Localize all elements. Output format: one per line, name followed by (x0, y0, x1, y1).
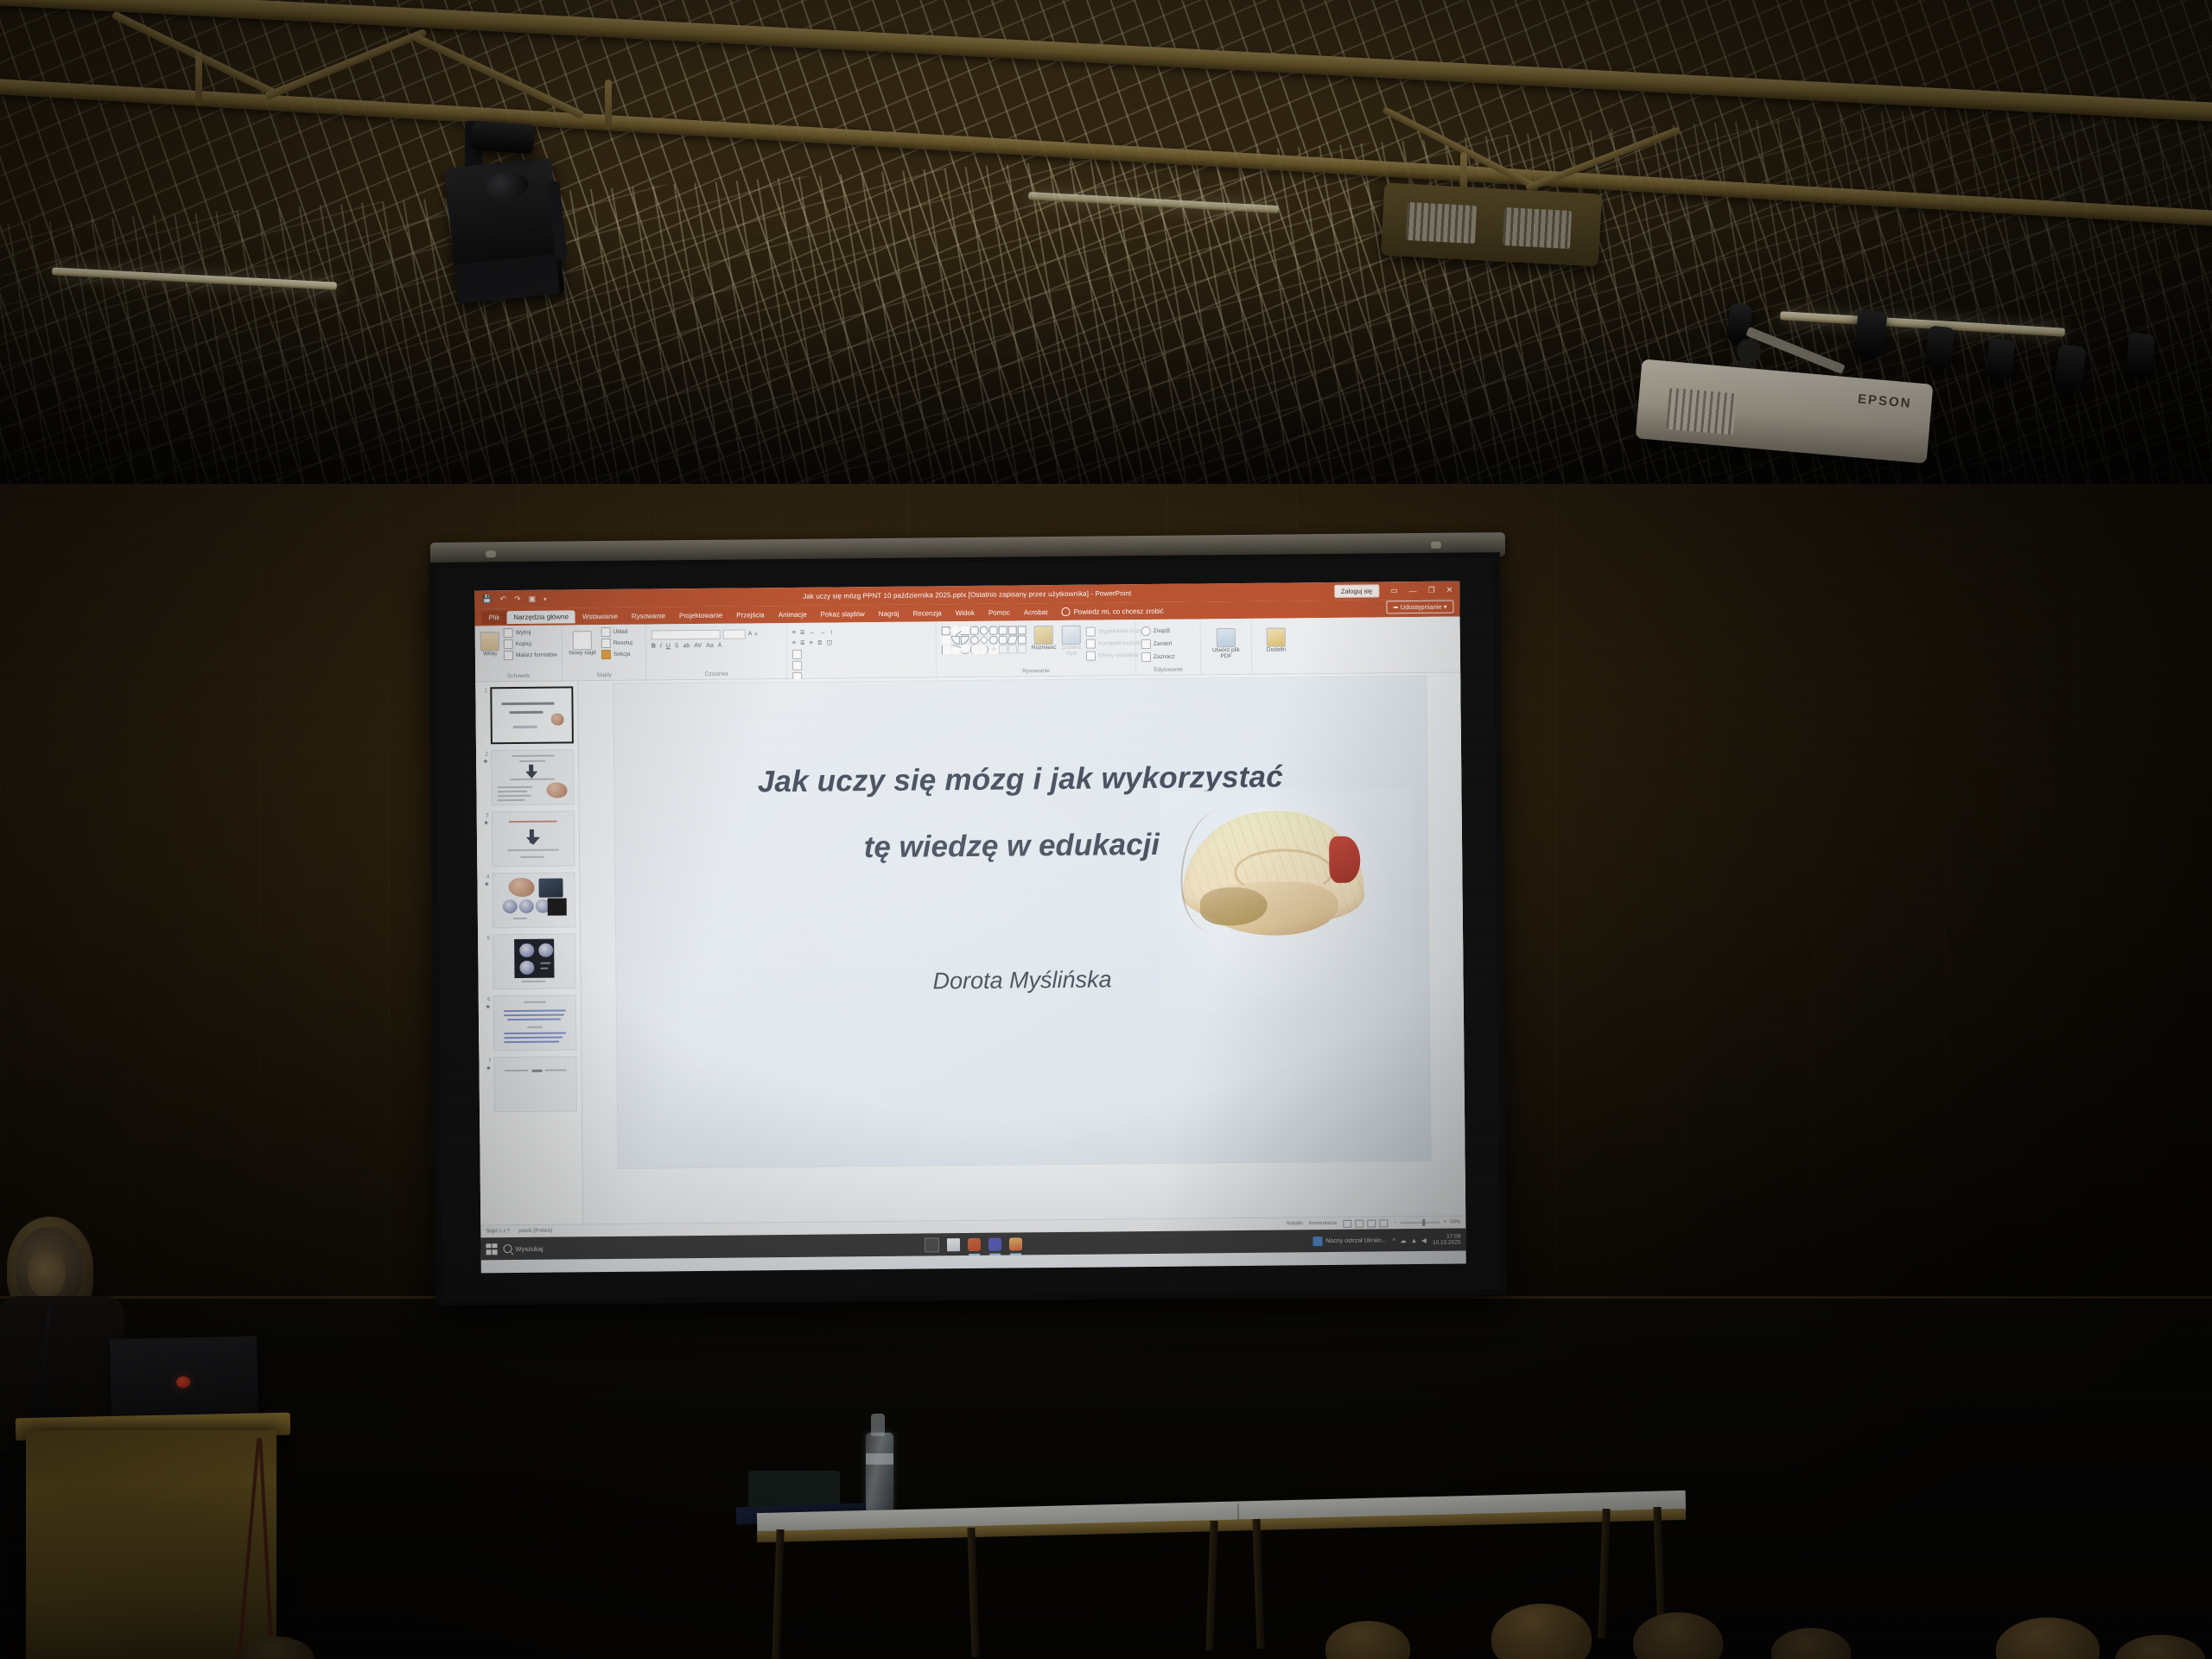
replace-icon (1141, 639, 1151, 649)
text-direction-icon (792, 650, 802, 659)
find-button[interactable]: Znajdź (1141, 626, 1195, 636)
group-label-edytowanie: Edytowanie (1141, 666, 1195, 674)
bold-icon[interactable]: B (652, 643, 656, 649)
paste-button[interactable]: Wklej (480, 632, 499, 658)
search-input[interactable]: Wyszukaj (503, 1244, 543, 1253)
current-slide[interactable]: Jak uczy się mózg i jak wykorzystać tę w… (613, 677, 1430, 1168)
paintbrush-icon (504, 651, 513, 660)
shape-circle2-icon[interactable] (970, 636, 979, 645)
copy-label: Kopiuj (516, 641, 531, 647)
shape-line-icon[interactable] (950, 625, 962, 637)
wall-lower-dark (0, 1300, 2212, 1659)
arrange-label: Rozmieść (1032, 645, 1057, 652)
tab-plik[interactable]: Plik (481, 611, 506, 624)
addins-label: Dodatki (1267, 647, 1286, 653)
truss-vertical-2 (605, 79, 612, 130)
ceiling-fixture-c (1925, 326, 1955, 370)
highlighted-region (1328, 836, 1360, 883)
slide-number: 3 (481, 811, 489, 819)
slide-number: 4 (481, 873, 489, 880)
zoom-slider[interactable] (1401, 1222, 1440, 1224)
volume-icon[interactable]: ◀ (1421, 1236, 1427, 1243)
increase-font-size-icon[interactable]: A (748, 631, 753, 637)
slide-sorter-icon[interactable] (1355, 1219, 1363, 1227)
tab-projektowanie[interactable]: Projektowanie (672, 608, 729, 622)
shape-more-a-icon[interactable] (999, 645, 1007, 654)
align-text-label (804, 663, 818, 669)
select-button[interactable]: Zaznacz (1141, 652, 1195, 662)
ceiling-fixture-b (1853, 309, 1887, 357)
reset-label: Resetuj (613, 640, 632, 646)
text-direction-label (804, 652, 818, 658)
underline-icon[interactable]: U (666, 643, 671, 649)
group-label-acrobat (1206, 666, 1246, 673)
reading-view-icon[interactable] (1367, 1219, 1376, 1227)
shape-outline-icon (1086, 639, 1096, 649)
reset-button[interactable]: Resetuj (601, 639, 632, 648)
firefox-icon[interactable] (1009, 1237, 1022, 1250)
ceiling-fixture-f (2126, 333, 2156, 377)
truss-light-box-vent-2 (1503, 207, 1572, 249)
water-bottle-label (866, 1453, 893, 1465)
format-painter-label: Malarz formatów (516, 652, 557, 658)
group-label-czcionka: Czcionka (652, 671, 781, 678)
ribbon[interactable]: Wklej Wytnij Kopiuj (475, 617, 1461, 683)
list-item[interactable]: 1 (475, 686, 578, 750)
slide-number: 6 (483, 995, 491, 1003)
columns-icon[interactable]: ◫ (827, 639, 833, 645)
shape-diamond-icon[interactable] (980, 636, 988, 645)
task-view-icon[interactable] (925, 1237, 939, 1252)
decrease-indent-icon[interactable]: ← (810, 629, 816, 635)
taskbar-pinned-apps[interactable] (925, 1236, 1022, 1252)
projector-vent (1666, 388, 1737, 435)
water-bottle (866, 1433, 893, 1512)
decrease-font-size-icon[interactable]: A (754, 632, 757, 637)
shape-brace-left-icon[interactable] (970, 645, 979, 654)
ribbon-group-schowek: Wklej Wytnij Kopiuj (475, 625, 563, 681)
justify-icon[interactable]: ≣ (817, 639, 823, 646)
slide-counter: Slajd 1 z 7 (486, 1229, 510, 1234)
ceiling-fixture-d (1986, 338, 2016, 380)
group-label-dodatki (1257, 665, 1295, 672)
shape-star-icon[interactable]: ☆ (989, 645, 998, 654)
truss-light-box-vent (1406, 202, 1477, 244)
tab-recenzja[interactable]: Recenzja (906, 607, 949, 620)
brain-sagittal-image[interactable] (1159, 789, 1413, 1012)
comments-button[interactable]: Komentarze (1309, 1221, 1337, 1226)
share-chevron-down-icon: ▾ (1444, 603, 1447, 611)
news-widget[interactable]: Nocny ostrzał Ukrain... (1313, 1236, 1387, 1246)
shape-rr2-icon[interactable] (999, 636, 1007, 645)
cut-button[interactable]: Wytnij (504, 628, 557, 639)
tab-narzedzia-glowne[interactable]: Narzędzia główne (506, 610, 575, 624)
font-color-icon[interactable]: A (718, 643, 722, 649)
presenter-face (28, 1251, 66, 1298)
list-item[interactable]: 6 ★ (479, 995, 582, 1057)
new-slide-label: Nowy slajd (569, 651, 596, 657)
tab-przejscia[interactable]: Przejścia (729, 608, 772, 621)
section-icon (601, 650, 611, 659)
bullets-icon[interactable]: ≡ (792, 629, 796, 635)
copy-button[interactable]: Kopiuj (504, 639, 557, 650)
share-label: Udostępnianie (1401, 603, 1442, 611)
new-slide-icon (573, 631, 592, 650)
lecture-hall-photo: EPSON 💾 ↶ ↷ ▣ ▾ Jak uczy (0, 0, 2212, 1659)
italic-icon[interactable]: I (660, 643, 662, 649)
file-explorer-icon[interactable] (947, 1238, 960, 1251)
tab-acrobat[interactable]: Acrobat (1017, 606, 1055, 619)
view-buttons[interactable] (1343, 1219, 1388, 1227)
new-slide-button[interactable]: Nowy slajd (568, 631, 597, 657)
quick-styles-icon (1062, 626, 1081, 645)
shape-brace-right-icon[interactable] (980, 645, 988, 654)
tell-me-label: Powiedz mi, co chcesz zrobić (1073, 607, 1164, 615)
close-button[interactable]: ✕ (1446, 586, 1453, 595)
increase-indent-icon[interactable]: → (820, 629, 826, 635)
quick-styles-button[interactable]: Szybkie style (1061, 626, 1081, 658)
align-text-button[interactable] (792, 659, 931, 671)
powerpoint-workspace: 1 2 (475, 673, 1465, 1225)
ribbon-group-rysowanie: ☆ Rozmieść Szybkie sty (937, 620, 1137, 677)
powerpoint-icon[interactable] (968, 1237, 981, 1250)
ribbon-display-options-icon[interactable]: ▭ (1390, 586, 1398, 595)
line-spacing-icon[interactable]: ↕ (830, 629, 834, 635)
shape-circle3-icon[interactable] (989, 636, 998, 645)
slide-animation-icon: ★ (480, 758, 488, 765)
projection-screen-surface: 💾 ↶ ↷ ▣ ▾ Jak uczy się mózg PPNT 10 paźd… (435, 557, 1500, 1300)
slide-animation-icon: ★ (481, 880, 489, 887)
shape-more-b-icon[interactable] (1008, 645, 1017, 653)
ribbon-group-edytowanie: Znajdź Zamień Zaznacz Edytowanie (1136, 619, 1202, 675)
tab-wstawianie[interactable]: Wstawianie (575, 609, 625, 623)
font-name-combo[interactable] (652, 630, 721, 640)
shape-wave-icon[interactable] (961, 645, 969, 654)
zoom-out-icon[interactable]: − (1394, 1220, 1397, 1225)
presenter-laptop (110, 1336, 258, 1426)
shape-more-c-icon[interactable] (1018, 645, 1027, 653)
shapes-gallery[interactable]: ☆ (942, 626, 1027, 654)
text-direction-button[interactable] (792, 648, 931, 659)
tell-me-search[interactable]: Powiedz mi, co chcesz zrobić (1061, 607, 1164, 616)
shadow-icon[interactable]: S (675, 643, 679, 649)
list-item[interactable]: 5 (478, 933, 581, 995)
zoom-control[interactable]: − + 56% (1394, 1220, 1460, 1226)
cloud-icon[interactable]: ☁ (1400, 1236, 1407, 1244)
list-item[interactable]: 2 ★ (476, 749, 579, 811)
shape-square-icon[interactable] (999, 626, 1007, 635)
frontal-edge-shading (1179, 810, 1251, 931)
share-icon: ➦ (1393, 603, 1398, 611)
section-label: Sekcja (613, 652, 631, 658)
arrange-button[interactable]: Rozmieść (1032, 626, 1057, 652)
slide-thumbnail-3[interactable] (492, 810, 575, 867)
ribbon-group-acrobat: Utwórz plik PDF (1201, 619, 1253, 675)
slide-animation-icon: ★ (483, 1003, 491, 1010)
tab-pokaz-slajdow[interactable]: Pokaz slajdów (814, 607, 872, 621)
layout-label: Układ (613, 629, 628, 635)
language-indicator[interactable]: polski (Polska) (518, 1229, 552, 1234)
taskbar-clock[interactable]: 17:09 10.10.2025 (1433, 1233, 1461, 1246)
replace-label: Zamień (1154, 641, 1173, 647)
sign-in-button[interactable]: Zaloguj się (1334, 584, 1379, 598)
paste-label: Wklej (483, 652, 497, 658)
character-spacing-icon[interactable]: AV (694, 643, 702, 649)
align-text-icon (792, 661, 802, 671)
shape-parallelogram-icon[interactable] (1007, 635, 1018, 644)
minimize-button[interactable]: — (1409, 586, 1417, 594)
lightbulb-icon (1061, 607, 1070, 616)
shape-triangle-icon[interactable] (942, 636, 950, 644)
ribbon-group-slajdy: Nowy slajd Układ Resetuj (563, 625, 647, 681)
list-item[interactable]: 7 ★ (479, 1056, 582, 1118)
window-controls[interactable]: Zaloguj się ▭ — ❐ ✕ (1334, 584, 1453, 598)
slide-thumbnail-7[interactable] (493, 1056, 577, 1112)
ribbon-group-dodatki: Dodatki (1252, 618, 1301, 674)
search-icon (1141, 626, 1151, 636)
replace-button[interactable]: Zamień (1141, 639, 1195, 649)
teams-icon[interactable] (988, 1237, 1001, 1250)
pdf-icon (1217, 628, 1236, 647)
laptop-logo-light (176, 1376, 190, 1388)
shape-arrow-icon[interactable] (961, 626, 969, 635)
network-icon[interactable]: ▲ (1411, 1236, 1418, 1244)
slide-thumbnail-6[interactable] (493, 995, 577, 1051)
align-left-icon[interactable]: ≡ (792, 639, 796, 645)
clock-date: 10.10.2025 (1433, 1240, 1461, 1246)
share-button[interactable]: ➦ Udostępnianie ▾ (1386, 601, 1453, 614)
align-center-icon[interactable]: ≣ (800, 639, 805, 646)
find-label: Znajdź (1154, 628, 1171, 634)
group-label-slajdy: Slajdy (568, 672, 640, 680)
list-item[interactable]: 4 ★ (477, 872, 580, 934)
ceiling-fixture-g (1726, 303, 1752, 343)
system-tray[interactable]: ^ ☁ ▲ ◀ (1393, 1236, 1427, 1243)
news-headline: Nocny ostrzał Ukrain... (1325, 1237, 1386, 1244)
search-placeholder: Wyszukaj (515, 1244, 543, 1252)
group-label-rysowanie: Rysowanie (942, 667, 1130, 676)
shape-oval-icon[interactable] (980, 626, 988, 635)
zoom-in-icon[interactable]: + (1444, 1220, 1447, 1225)
select-icon (1141, 652, 1151, 662)
screen-case-knob-left (486, 550, 496, 557)
shape-rounded-rect-icon[interactable] (970, 626, 979, 635)
scissors-icon (504, 628, 513, 638)
arrange-icon (1034, 626, 1053, 645)
strikethrough-icon[interactable]: ab (683, 643, 690, 649)
reset-icon (601, 639, 611, 648)
notes-button[interactable]: Notatki (1287, 1221, 1303, 1226)
layout-button[interactable]: Układ (601, 627, 632, 637)
copy-icon (504, 639, 513, 649)
start-icon[interactable] (486, 1243, 497, 1255)
shape-box-icon[interactable] (989, 626, 998, 635)
zoom-level: 56% (1450, 1220, 1460, 1225)
shape-zigzag-icon[interactable] (950, 645, 962, 656)
normal-view-icon[interactable] (1343, 1219, 1351, 1227)
shape-l-icon[interactable] (961, 636, 969, 645)
format-painter-button[interactable]: Malarz formatów (504, 651, 557, 661)
tab-widok[interactable]: Widok (949, 606, 982, 619)
slide-thumbnail-4[interactable] (492, 872, 575, 928)
shape-scribble-icon[interactable] (942, 645, 950, 654)
slide-number: 7 (483, 1057, 491, 1065)
quick-styles-label: Szybkie style (1061, 645, 1081, 658)
shape-effects-icon (1086, 652, 1096, 661)
slide-thumbnail-2[interactable] (491, 749, 575, 805)
tab-nagraj[interactable]: Nagraj (872, 607, 906, 620)
group-label-schowek: Schowek (480, 673, 556, 681)
slide-thumbnail-5[interactable] (493, 933, 576, 989)
ribbon-group-akapit: ≡ ≣ ← → ↕ ≡ ≣ ≡ ≣ ◫ (787, 621, 938, 678)
slide-animation-icon: ★ (481, 819, 489, 826)
shape-free-icon[interactable] (1008, 626, 1017, 634)
projector-mount-ball-left (1737, 339, 1761, 363)
restore-button[interactable]: ❐ (1428, 586, 1435, 595)
addins-icon (1267, 627, 1286, 646)
ceiling-fixture-a (471, 121, 535, 155)
font-size-combo[interactable] (723, 629, 746, 639)
tab-animacje[interactable]: Animacje (772, 607, 814, 620)
tab-rysowanie[interactable]: Rysowanie (625, 609, 672, 623)
list-item[interactable]: 3 ★ (477, 810, 580, 873)
ribbon-group-czcionka: A A B I U S ab AV Aa A (646, 623, 788, 680)
slide-number: 2 (480, 750, 488, 758)
tab-pomoc[interactable]: Pomoc (982, 606, 1017, 619)
slide-thumbnail-pane[interactable]: 1 2 (475, 681, 583, 1224)
numbering-icon[interactable]: ≣ (800, 629, 805, 636)
section-button[interactable]: Sekcja (601, 650, 632, 659)
screen-case-knob-right (1431, 542, 1441, 549)
slideshow-icon[interactable] (1379, 1219, 1388, 1227)
slide-number: 1 (480, 687, 487, 695)
slide-animation-icon: ★ (483, 1065, 491, 1071)
create-pdf-button[interactable]: Utwórz plik PDF (1209, 628, 1243, 660)
powerpoint-window[interactable]: 💾 ↶ ↷ ▣ ▾ Jak uczy się mózg PPNT 10 paźd… (474, 582, 1466, 1274)
projection-screen: 💾 ↶ ↷ ▣ ▾ Jak uczy się mózg PPNT 10 paźd… (429, 552, 1507, 1306)
news-icon (1313, 1236, 1322, 1246)
ceiling-fixture-e (2054, 344, 2086, 390)
slide-thumbnail-1[interactable] (490, 686, 574, 744)
shape-effects-label: Efekty kształtów (1098, 652, 1139, 658)
truss-vertical-1 (195, 52, 202, 105)
create-pdf-label: Utwórz plik PDF (1209, 648, 1243, 660)
search-icon (503, 1244, 512, 1253)
show-hidden-icons-chevron-icon[interactable]: ^ (1393, 1236, 1396, 1244)
shape-fill-icon (1086, 627, 1096, 637)
align-right-icon[interactable]: ≡ (810, 639, 813, 645)
cut-label: Wytnij (516, 630, 531, 636)
taskbar-system-area[interactable]: Nocny ostrzał Ukrain... ^ ☁ ▲ ◀ 17:09 10… (1313, 1233, 1460, 1247)
layout-icon (601, 627, 611, 637)
select-label: Zaznacz (1154, 654, 1175, 660)
change-case-icon[interactable]: Aa (706, 643, 714, 649)
slide-number: 5 (482, 934, 490, 942)
paste-icon (480, 632, 499, 651)
shape-pentagon-icon[interactable] (1018, 635, 1027, 644)
podium (26, 1430, 276, 1659)
addins-button[interactable]: Dodatki (1260, 627, 1293, 653)
shape-misc-icon[interactable] (1018, 626, 1027, 634)
slide-editing-area[interactable]: Jak uczy się mózg i jak wykorzystać tę w… (578, 673, 1465, 1224)
